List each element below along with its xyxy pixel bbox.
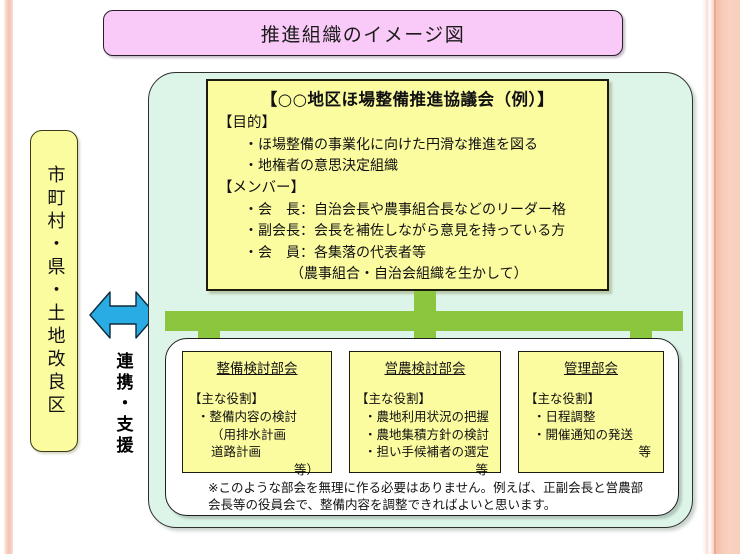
list-item: ・会 長：自治会長や農事組合長などのリーダー格 <box>218 200 597 221</box>
link-support-label-wrap: 連携・支援 <box>100 352 146 480</box>
list-item: ・農地利用状況の把握 <box>356 408 494 426</box>
council-purpose-list: ・ほ場整備の事業化に向けた円滑な推進を図る ・地権者の意思決定組織 <box>218 135 597 178</box>
footnote-line-2: 会長等の役員会で、整備内容を調整できればよいと思います。 <box>208 496 660 513</box>
list-item: ・ほ場整備の事業化に向けた円滑な推進を図る <box>218 135 597 156</box>
subcommittee-title: 整備検討部会 <box>189 357 325 377</box>
list-item: 道路計画 <box>189 443 325 461</box>
diagram-page: 推進組織のイメージ図 市町村・県・土地改良区 連携・支援 【○○地区ほ場整備推進… <box>0 0 740 554</box>
authority-box: 市町村・県・土地改良区 <box>30 130 78 452</box>
diagram-title-banner: 推進組織のイメージ図 <box>103 10 623 56</box>
subcommittee-item-list: ・整備内容の検討 （用排水計画 道路計画 等） <box>189 408 325 479</box>
footnote: ※このような部会を無理に作る必要はありません。例えば、正副会長と営農部 会長等の… <box>190 479 660 514</box>
list-item: ・地権者の意思決定組織 <box>218 156 597 177</box>
council-purpose-label: 【目的】 <box>218 113 597 135</box>
right-edge-line <box>714 0 716 554</box>
council-heading: 【○○地区ほ場整備推進協議会（例）】 <box>218 86 597 110</box>
subcommittee-box-einou: 営農検討部会 【主な役割】 ・農地利用状況の把握 ・農地集積方針の検討 ・担い手… <box>349 351 501 473</box>
list-item: ・開催通知の発送 <box>525 426 657 444</box>
organization-container: 【○○地区ほ場整備推進協議会（例）】 【目的】 ・ほ場整備の事業化に向けた円滑な… <box>148 72 693 528</box>
connector-stem <box>414 291 436 311</box>
list-item: ・農地集積方針の検討 <box>356 426 494 444</box>
subcommittee-box-kanri: 管理部会 【主な役割】 ・日程調整 ・開催通知の発送 等 <box>518 351 664 473</box>
right-edge-strip <box>702 0 740 554</box>
subcommittee-role-label: 【主な役割】 <box>525 390 657 408</box>
list-item: ・副会長：会長を補佐しながら意見を持っている方 <box>218 221 597 242</box>
list-item: 等） <box>189 461 325 479</box>
list-item: ・会 員：各集落の代表者等 <box>218 243 597 264</box>
subcommittee-role-label: 【主な役割】 <box>189 390 325 408</box>
left-edge-strip <box>4 0 13 554</box>
list-item: ・日程調整 <box>525 408 657 426</box>
page-title: 推進組織のイメージ図 <box>261 20 466 47</box>
subcommittee-title: 営農検討部会 <box>356 357 494 377</box>
subcommittee-box-seibi: 整備検討部会 【主な役割】 ・整備内容の検討 （用排水計画 道路計画 等） <box>182 351 332 473</box>
list-item: ・担い手候補者の選定 <box>356 443 494 461</box>
connector-horizontal-bar <box>165 311 683 331</box>
authority-label: 市町村・県・土地改良区 <box>45 165 64 418</box>
list-item: 等 <box>525 443 657 461</box>
subcommittee-item-list: ・農地利用状況の把握 ・農地集積方針の検討 ・担い手候補者の選定 等 <box>356 408 494 479</box>
subcommittee-item-list: ・日程調整 ・開催通知の発送 等 <box>525 408 657 461</box>
council-member-note: （農事組合・自治会組織を生かして） <box>218 264 597 285</box>
list-item: （用排水計画 <box>189 426 325 444</box>
council-member-list: ・会 長：自治会長や農事組合長などのリーダー格 ・副会長：会長を補佐しながら意見… <box>218 200 597 285</box>
subcommittee-title: 管理部会 <box>525 357 657 377</box>
subcommittee-role-label: 【主な役割】 <box>356 390 494 408</box>
subcommittee-container: 整備検討部会 【主な役割】 ・整備内容の検討 （用排水計画 道路計画 等） 営農… <box>165 338 679 516</box>
list-item: 等 <box>356 461 494 479</box>
council-member-label: 【メンバー】 <box>218 178 597 200</box>
council-box: 【○○地区ほ場整備推進協議会（例）】 【目的】 ・ほ場整備の事業化に向けた円滑な… <box>206 79 609 291</box>
footnote-line-1: ※このような部会を無理に作る必要はありません。例えば、正副会長と営農部 <box>208 479 660 496</box>
link-support-label: 連携・支援 <box>111 352 136 457</box>
list-item: ・整備内容の検討 <box>189 408 325 426</box>
